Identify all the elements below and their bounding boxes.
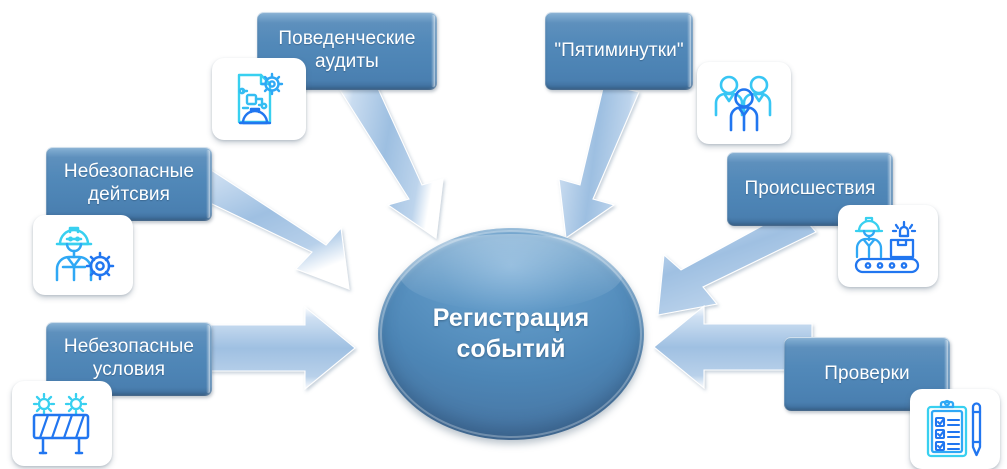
node-incidents-label: Происшествия	[744, 178, 875, 201]
worker-gear-icon	[48, 225, 118, 285]
icon-card-incidents[interactable]	[838, 205, 938, 287]
center-node-label-line2: событий	[457, 335, 566, 363]
icon-card-unsafe-actions[interactable]	[33, 215, 133, 295]
worker-conveyor-alarm-icon	[851, 216, 925, 276]
barrier-lights-icon	[26, 393, 98, 455]
icon-card-behavioral-audits[interactable]	[212, 58, 306, 140]
node-unsafe-actions-line2: дейтсвия	[88, 184, 170, 205]
diagram-canvas: Регистрация событий Поведенческие аудиты	[0, 0, 1007, 469]
node-behavioral-audits-line1: Поведенческие	[278, 28, 415, 49]
node-behavioral-audits-line2: аудиты	[315, 51, 379, 72]
node-unsafe-conditions-line1: Небезопасные	[64, 336, 194, 357]
node-unsafe-actions-line1: Небезопасные	[64, 161, 194, 182]
node-inspections-label: Проверки	[824, 363, 910, 386]
arrow-unsafe-conditions	[196, 307, 355, 389]
icon-card-inspections[interactable]	[910, 389, 1000, 469]
center-node[interactable]: Регистрация событий	[378, 228, 644, 440]
arrow-five-minute-talks	[559, 84, 639, 238]
node-unsafe-actions[interactable]: Небезопасные дейтсвия	[46, 147, 212, 221]
arrow-behavioral-audits	[340, 82, 443, 238]
node-five-minute-talks-label: "Пятиминутки"	[554, 40, 683, 63]
document-gear-helmet-icon	[226, 68, 292, 130]
three-people-icon	[710, 73, 778, 133]
icon-card-five-minute-talks[interactable]	[697, 62, 791, 144]
center-node-label: Регистрация событий	[433, 303, 589, 366]
node-unsafe-actions-label: Небезопасные дейтсвия	[64, 161, 194, 207]
center-node-label-line1: Регистрация	[433, 304, 589, 332]
node-unsafe-conditions-label: Небезопасные условия	[64, 336, 194, 382]
node-unsafe-conditions-line2: условия	[93, 359, 165, 380]
clipboard-pen-icon	[923, 398, 987, 460]
icon-card-unsafe-conditions[interactable]	[12, 381, 112, 466]
node-five-minute-talks[interactable]: "Пятиминутки"	[545, 12, 693, 90]
